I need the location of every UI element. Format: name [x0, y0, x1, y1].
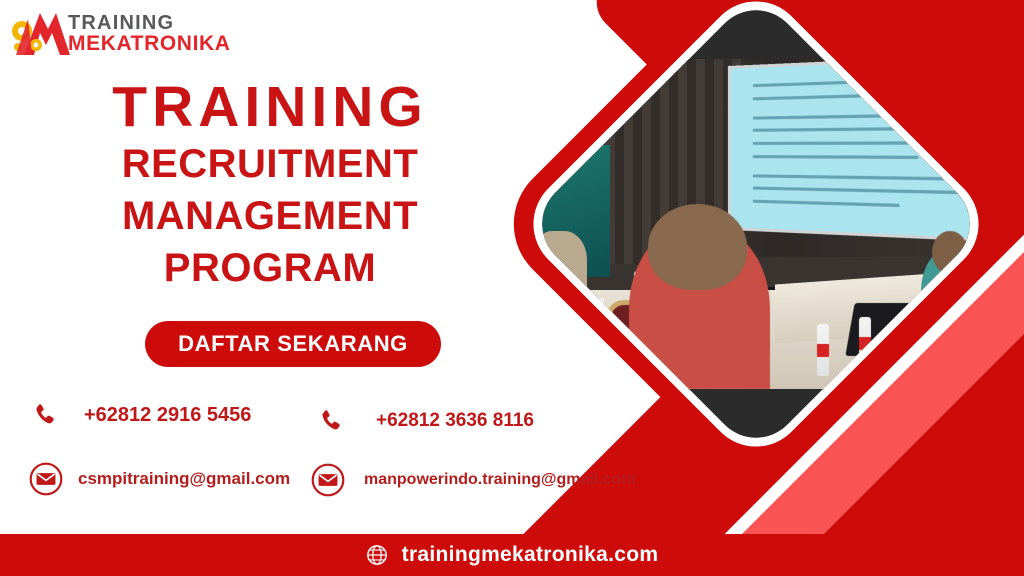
footer-bar: trainingmekatronika.com [0, 534, 1024, 576]
phone-icon [318, 407, 344, 435]
headline-line2: RECRUITMENT [0, 138, 540, 190]
envelope-icon [310, 462, 346, 498]
promotional-banner: TRAINING MEKATRONIKA TRAINING RECRUITMEN… [0, 0, 1024, 576]
globe-icon [366, 544, 388, 566]
headline-block: TRAINING RECRUITMENT MANAGEMENT PROGRAM [0, 76, 540, 294]
contact-email-2[interactable]: manpowerindo.training@gmail.com [310, 462, 636, 498]
logo-line-1: TRAINING [68, 13, 231, 33]
contact-phone-2[interactable]: +62812 3636 8116 [318, 407, 534, 435]
gear-m-logo-icon [10, 5, 76, 57]
envelope-icon [28, 461, 64, 497]
headline-main: TRAINING [0, 76, 540, 138]
brand-logo: TRAINING MEKATRONIKA [10, 5, 240, 63]
website-url: trainingmekatronika.com [402, 543, 659, 567]
phone-number-1: +62812 2916 5456 [84, 404, 251, 427]
headline-line4: PROGRAM [0, 242, 540, 294]
headline-line3: MANAGEMENT [0, 190, 540, 242]
phone-icon [32, 401, 58, 429]
email-address-2: manpowerindo.training@gmail.com [364, 471, 636, 489]
email-address-1: csmpitraining@gmail.com [78, 469, 290, 489]
register-now-button[interactable]: DAFTAR SEKARANG [145, 321, 441, 367]
logo-line-2: MEKATRONIKA [68, 33, 231, 55]
logo-wordmark: TRAINING MEKATRONIKA [68, 13, 231, 55]
phone-number-2: +62812 3636 8116 [376, 410, 534, 432]
contact-phone-1[interactable]: +62812 2916 5456 [32, 401, 251, 429]
contact-email-1[interactable]: csmpitraining@gmail.com [28, 461, 290, 497]
